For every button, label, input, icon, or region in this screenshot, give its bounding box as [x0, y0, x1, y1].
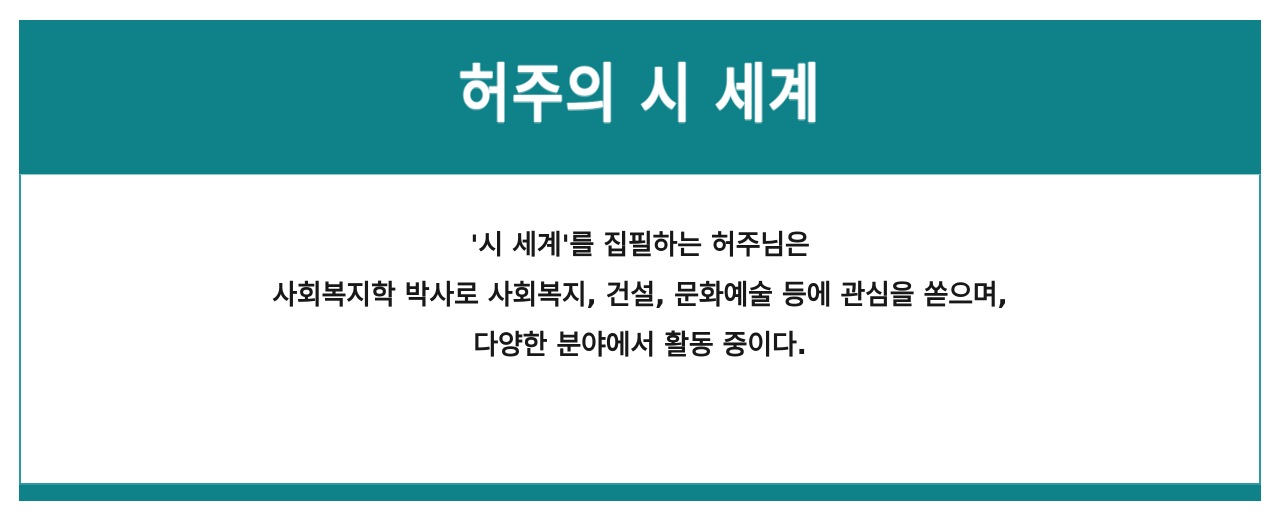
author-description: '시 세계'를 집필하는 허주님은 사회복지학 박사로 사회복지, 건설, 문화… — [21, 221, 1259, 371]
footer-bar — [19, 485, 1261, 501]
description-line-2: 사회복지학 박사로 사회복지, 건설, 문화예술 등에 관심을 쏟으며, — [21, 271, 1259, 321]
profile-card: 허주의 시 세계 '시 세계'를 집필하는 허주님은 사회복지학 박사로 사회복… — [19, 20, 1261, 501]
body-panel: '시 세계'를 집필하는 허주님은 사회복지학 박사로 사회복지, 건설, 문화… — [19, 174, 1261, 485]
description-line-1: '시 세계'를 집필하는 허주님은 — [21, 221, 1259, 271]
description-line-3: 다양한 분야에서 활동 중이다. — [21, 321, 1259, 371]
header-banner: 허주의 시 세계 — [19, 20, 1261, 174]
page-title: 허주의 시 세계 — [459, 62, 822, 129]
